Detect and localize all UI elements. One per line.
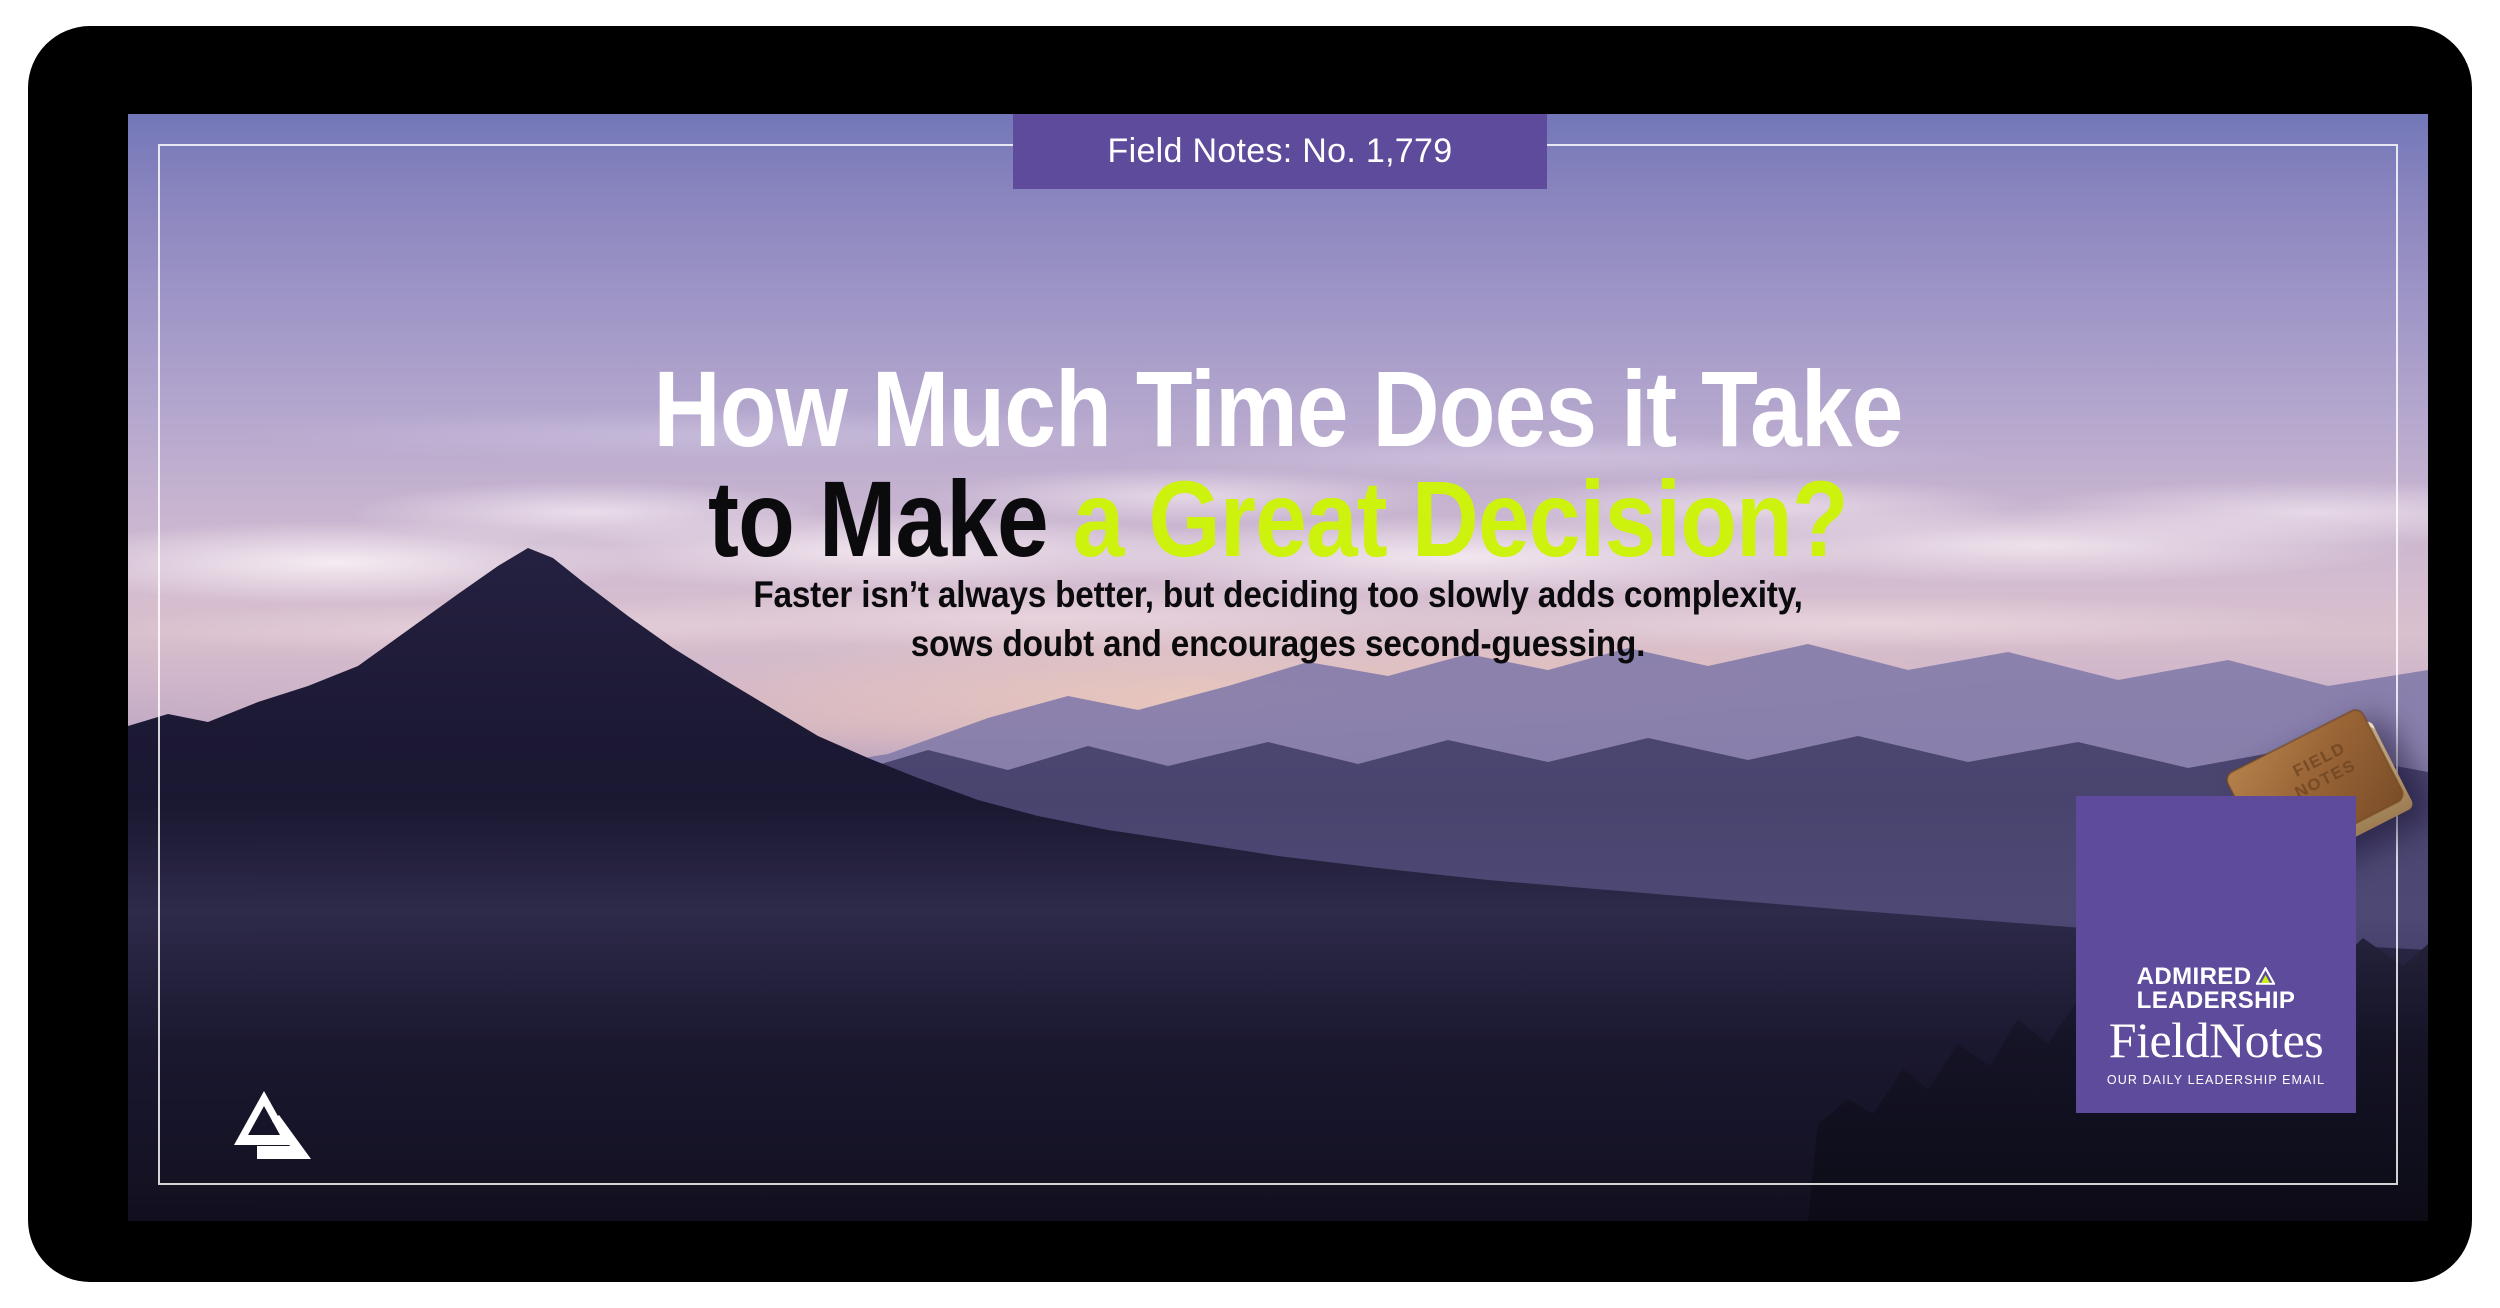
- promo-brand-block: ADMIRED LEADERSHIP FieldNotes OUR DAILY: [2076, 965, 2356, 1087]
- issue-number-badge: Field Notes: No. 1,779: [1013, 114, 1547, 189]
- promo-product-name: FieldNotes: [2076, 1015, 2356, 1066]
- admired-leadership-logo-icon: [232, 1089, 318, 1161]
- headline-line-2-accent: a Great Decision?: [1073, 458, 1848, 579]
- brand-lockup: ADMIRED LEADERSHIP: [2137, 965, 2296, 1012]
- promo-tagline: OUR DAILY LEADERSHIP EMAIL: [2076, 1073, 2356, 1087]
- brand-word-admired: ADMIRED: [2137, 965, 2252, 989]
- headline-line-2-lead: to Make: [708, 458, 1073, 579]
- subtitle-line-1: Faster isn’t always better, but deciding…: [243, 571, 2313, 620]
- headline-line-2: to Make a Great Decision?: [289, 464, 2267, 574]
- issue-number-label: Field Notes: No. 1,779: [1108, 132, 1453, 171]
- page-subtitle: Faster isn’t always better, but deciding…: [243, 571, 2313, 669]
- headline-line-1-text: How Much Time Does it Take: [654, 348, 1903, 469]
- headline-line-1: How Much Time Does it Take: [289, 354, 2267, 464]
- field-notes-promo-card[interactable]: ADMIRED LEADERSHIP FieldNotes OUR DAILY: [2076, 796, 2356, 1113]
- brand-row-top: ADMIRED: [2137, 965, 2296, 989]
- brand-word-leadership: LEADERSHIP: [2137, 989, 2296, 1013]
- admired-leadership-triangle-icon: [2256, 967, 2275, 989]
- subtitle-line-2: sows doubt and encourages second-guessin…: [243, 620, 2313, 669]
- slide-screen: Field Notes: No. 1,779 How Much Time Doe…: [128, 114, 2428, 1221]
- device-bezel: Field Notes: No. 1,779 How Much Time Doe…: [28, 26, 2472, 1282]
- page-title: How Much Time Does it Take to Make a Gre…: [289, 354, 2267, 574]
- brand-row-bottom: LEADERSHIP: [2137, 989, 2296, 1013]
